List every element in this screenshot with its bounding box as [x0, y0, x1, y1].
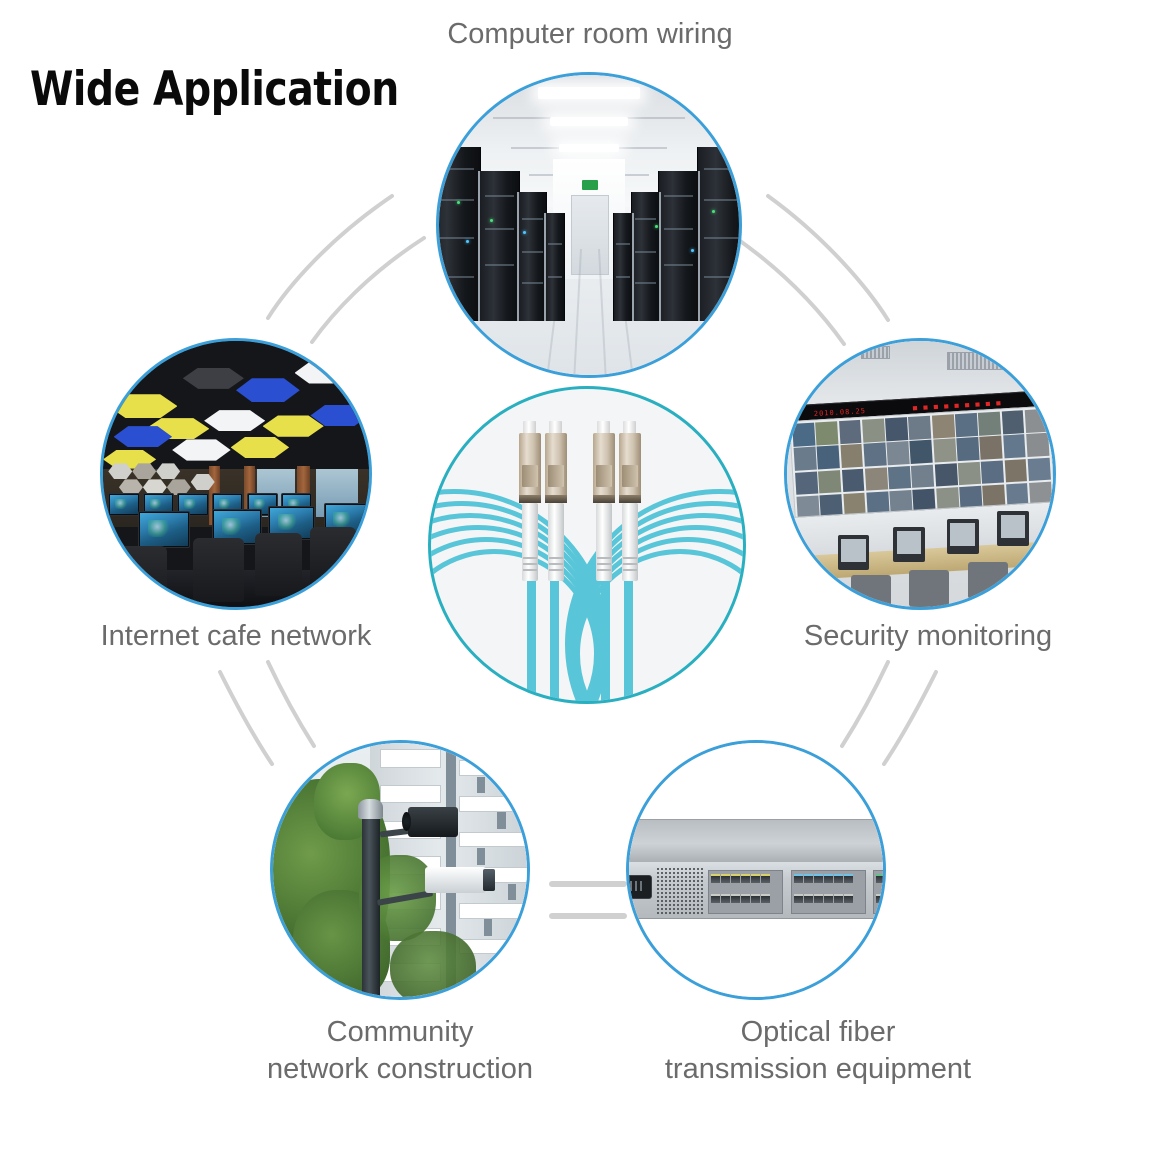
cable-run	[601, 574, 610, 704]
cctv-screen	[840, 444, 863, 468]
cctv-screen	[885, 417, 908, 441]
monitor	[138, 511, 191, 548]
link-top-right-a	[768, 196, 888, 320]
cctv-screen	[958, 461, 981, 485]
sfp-port	[834, 874, 843, 883]
sfp-port	[844, 874, 853, 883]
link-top-right-b	[736, 238, 844, 344]
sfp-port	[824, 874, 833, 883]
label-line: transmission equipment	[608, 1051, 1028, 1088]
node-community-network-construction[interactable]	[270, 740, 530, 1000]
connector-base	[545, 495, 567, 503]
cctv-screen	[792, 422, 815, 446]
sfp-port	[876, 874, 885, 883]
cable-run	[624, 574, 633, 704]
sfp-port	[804, 894, 813, 903]
label-community-network-construction: Community network construction	[228, 1014, 572, 1088]
ceiling-vent	[947, 352, 1008, 370]
label-line: network construction	[228, 1051, 572, 1088]
sfp-port	[794, 874, 803, 883]
link-left-bl-a	[220, 672, 272, 764]
cctv-screen	[816, 421, 839, 445]
cctv-screen	[862, 418, 885, 442]
label-internet-cafe-network: Internet cafe network	[46, 618, 426, 655]
label-line: Internet cafe network	[46, 618, 426, 655]
chair	[310, 527, 355, 586]
chair	[968, 562, 1008, 599]
sfp-port	[814, 894, 823, 903]
node-internet-cafe-network[interactable]	[100, 338, 372, 610]
sfp-port	[804, 874, 813, 883]
server-rack	[544, 213, 565, 321]
desk-monitor	[997, 511, 1029, 546]
node-optical-fiber-transmission-equipment[interactable]	[626, 740, 886, 1000]
cctv-screen	[980, 436, 1003, 460]
cctv-screen	[839, 420, 862, 444]
ceiling-lamp	[550, 117, 628, 126]
sfp-port	[751, 894, 760, 903]
sfp-port	[741, 874, 750, 883]
scene-data-center	[439, 75, 739, 375]
server-rack	[478, 171, 520, 321]
cctv-screen	[933, 438, 956, 462]
sfp-port	[794, 894, 803, 903]
cctv-screen	[888, 465, 911, 489]
cctv-screen	[981, 460, 1004, 484]
corridor-door	[571, 195, 609, 275]
label-security-monitoring: Security monitoring	[758, 618, 1098, 655]
sfp-port	[751, 874, 760, 883]
chair	[255, 533, 303, 597]
cctv-screen	[1003, 434, 1026, 458]
cctv-camera-black	[408, 807, 459, 837]
lc-duplex-connector-1	[519, 421, 567, 581]
cctv-screen	[1026, 433, 1049, 457]
sfp-port	[761, 874, 770, 883]
lc-connector	[593, 421, 615, 581]
infographic-canvas: Wide Application Computer room wiring	[0, 0, 1154, 1154]
strain-relief-boot	[622, 503, 638, 581]
camera-pole	[362, 812, 380, 1000]
desk-monitor	[947, 519, 979, 554]
link-left-bl-b	[268, 662, 314, 746]
scene-control-room: 2010.08.25 ■ ■ ■ ■ ■ ■ ■ ■ ■	[787, 341, 1053, 607]
ceiling-lamp	[538, 87, 640, 99]
label-optical-fiber-transmission-equipment: Optical fiber transmission equipment	[608, 1014, 1028, 1088]
pole-cap	[358, 799, 383, 819]
cctv-screen	[978, 411, 1001, 435]
sfp-port	[824, 894, 833, 903]
lc-connector	[519, 421, 541, 581]
cctv-screen	[910, 440, 933, 464]
link-top-left-a	[268, 196, 392, 318]
lc-connector	[545, 421, 567, 581]
chassis-top	[626, 819, 886, 863]
label-line: Community	[228, 1014, 572, 1051]
connector-base	[619, 495, 641, 503]
cable-run	[550, 574, 559, 704]
server-rack	[631, 192, 661, 321]
label-line: Security monitoring	[758, 618, 1098, 655]
server-rack	[436, 147, 481, 321]
cctv-screen	[842, 468, 865, 492]
sfp-port-row	[711, 894, 770, 903]
cctv-screen	[1005, 459, 1028, 483]
sfp-port	[761, 894, 770, 903]
link-right-br-a	[884, 672, 936, 764]
sfp-port-row	[794, 894, 853, 903]
center-node-fiber-patch-cable[interactable]	[428, 386, 746, 704]
cctv-screen	[794, 447, 817, 471]
led-ticker-date: 2010.08.25	[813, 406, 866, 417]
sfp-port	[814, 874, 823, 883]
sfp-port	[731, 894, 740, 903]
sfp-port	[834, 894, 843, 903]
vent-holes	[656, 867, 705, 914]
exit-sign-icon	[582, 180, 599, 190]
server-rack	[517, 192, 547, 321]
chassis-front-panel	[626, 862, 886, 919]
sfp-port	[721, 894, 730, 903]
chair	[909, 570, 949, 607]
sfp-port	[741, 894, 750, 903]
node-computer-room-wiring[interactable]	[436, 72, 742, 378]
cctv-screen	[1028, 457, 1051, 481]
strain-relief-boot	[596, 503, 612, 581]
cctv-screen	[795, 471, 818, 495]
strain-relief-boot	[522, 503, 538, 581]
cctv-screen	[909, 416, 932, 440]
strain-relief-boot	[548, 503, 564, 581]
lc-connector	[619, 421, 641, 581]
cctv-screen	[912, 464, 935, 488]
ceiling-vent	[861, 346, 890, 359]
connector-base	[593, 495, 615, 503]
server-rack	[658, 171, 700, 321]
cctv-screen	[957, 437, 980, 461]
chair	[851, 575, 891, 610]
page-title: Wide Application	[30, 62, 399, 117]
scene-internet-cafe	[103, 341, 369, 607]
node-security-monitoring[interactable]: 2010.08.25 ■ ■ ■ ■ ■ ■ ■ ■ ■	[784, 338, 1056, 610]
link-right-br-b	[842, 662, 888, 746]
cable-run	[527, 574, 536, 704]
sfp-port-row	[876, 874, 886, 883]
server-rack	[613, 213, 634, 321]
cctv-screen	[864, 443, 887, 467]
label-line: Computer room wiring	[406, 16, 774, 53]
latch-clip	[522, 465, 538, 487]
sfp-port-row	[794, 874, 853, 883]
chair	[193, 538, 244, 602]
scene-street-camera	[273, 743, 527, 997]
scene-fiber-switch	[629, 743, 883, 997]
latch-clip	[596, 465, 612, 487]
cctv-screen	[865, 467, 888, 491]
desk-monitor	[838, 535, 870, 570]
cctv-screen	[1025, 409, 1048, 433]
monitor	[108, 493, 139, 516]
tree-foliage	[390, 931, 476, 1000]
ceiling-lamp	[559, 144, 619, 152]
lc-duplex-connector-2	[593, 421, 641, 581]
sfp-port-row	[711, 874, 770, 883]
cctv-screen	[935, 463, 958, 487]
desk-monitor	[893, 527, 925, 562]
sfp-port	[731, 874, 740, 883]
sfp-port-row	[876, 894, 886, 903]
cctv-screen	[817, 445, 840, 469]
server-rack	[697, 147, 742, 321]
cctv-screen	[932, 414, 955, 438]
cctv-screen	[955, 413, 978, 437]
label-line: Optical fiber	[608, 1014, 1028, 1051]
cctv-screen	[887, 441, 910, 465]
sfp-port	[711, 894, 720, 903]
cctv-screen	[819, 470, 842, 494]
power-inlet	[626, 875, 652, 899]
connector-base	[519, 495, 541, 503]
latch-clip	[548, 465, 564, 487]
cctv-screen	[1002, 410, 1025, 434]
sfp-port	[721, 874, 730, 883]
sfp-port	[711, 874, 720, 883]
sfp-port	[844, 894, 853, 903]
link-top-left-b	[312, 238, 424, 342]
chair	[114, 546, 167, 607]
cctv-camera-white	[425, 867, 486, 892]
sfp-port	[876, 894, 885, 903]
label-computer-room-wiring: Computer room wiring	[406, 16, 774, 53]
latch-clip	[622, 465, 638, 487]
